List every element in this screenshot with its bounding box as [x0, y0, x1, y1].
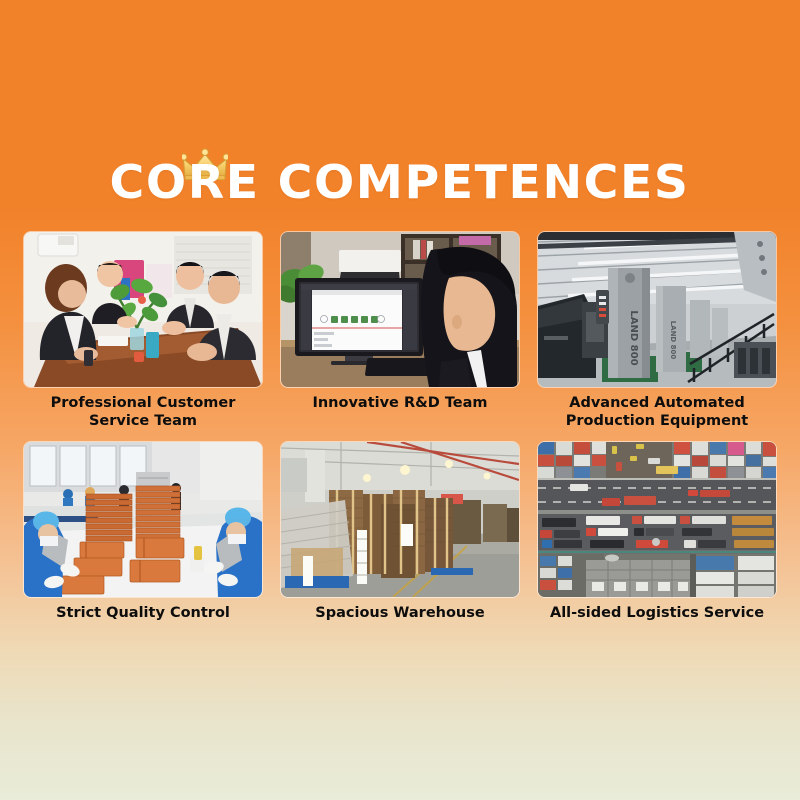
card-caption: Professional Customer Service Team — [24, 394, 262, 432]
thumbnail-quality-control[interactable] — [24, 442, 262, 597]
card-innovative-rd-team[interactable]: Innovative R&D Team — [281, 232, 519, 432]
thumbnail-customer-service-team[interactable] — [24, 232, 262, 387]
competence-grid: Professional Customer Service Team — [24, 232, 776, 642]
card-advanced-automated-production-equipment[interactable]: LAND 800 LAND 800 — [538, 232, 776, 432]
thumbnail-rd-team[interactable] — [281, 232, 519, 387]
page-title: CORE COMPETENCES — [110, 152, 690, 212]
card-caption: All-sided Logistics Service — [538, 604, 776, 642]
card-caption: Spacious Warehouse — [281, 604, 519, 642]
thumbnail-production-equipment[interactable]: LAND 800 LAND 800 — [538, 232, 776, 387]
card-caption: Strict Quality Control — [24, 604, 262, 642]
thumbnail-logistics-service[interactable] — [538, 442, 776, 597]
page-header: CORE COMPETENCES — [0, 152, 800, 222]
svg-text:LAND 800: LAND 800 — [628, 310, 639, 365]
card-all-sided-logistics-service[interactable]: All-sided Logistics Service — [538, 442, 776, 642]
card-caption: Innovative R&D Team — [281, 394, 519, 432]
card-caption: Advanced Automated Production Equipment — [538, 394, 776, 432]
card-strict-quality-control[interactable]: Strict Quality Control — [24, 442, 262, 642]
svg-text:LAND 800: LAND 800 — [669, 321, 677, 360]
card-spacious-warehouse[interactable]: Spacious Warehouse — [281, 442, 519, 642]
thumbnail-warehouse[interactable] — [281, 442, 519, 597]
card-professional-customer-service-team[interactable]: Professional Customer Service Team — [24, 232, 262, 432]
